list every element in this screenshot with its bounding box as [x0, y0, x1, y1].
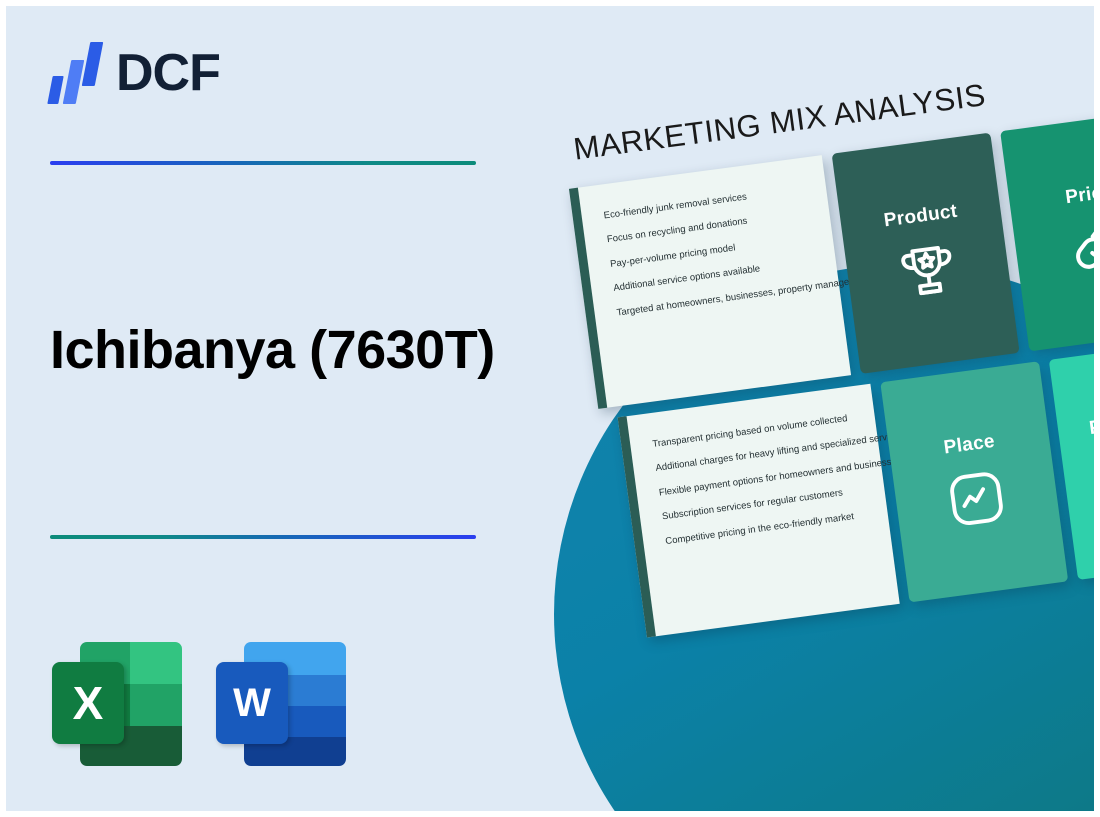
- document-icons: X W: [52, 640, 346, 768]
- divider-bottom: [50, 535, 476, 539]
- page-title: Ichibanya (7630T): [50, 321, 570, 380]
- marketing-mix-group: MARKETING MIX ANALYSIS Eco-friendly junk…: [562, 63, 1100, 652]
- card-price[interactable]: Price: [1000, 110, 1100, 351]
- analysis-stage: MARKETING MIX ANALYSIS Eco-friendly junk…: [506, 6, 1100, 817]
- excel-badge: X: [52, 662, 124, 744]
- product-bullet-list: Eco-friendly junk removal services Focus…: [578, 155, 844, 350]
- marketing-mix-grid: Eco-friendly junk removal services Focus…: [569, 115, 1100, 640]
- price-details-panel: Transparent pricing based on volume coll…: [618, 384, 900, 638]
- price-bullet-list: Transparent pricing based on volume coll…: [627, 384, 893, 579]
- card-promotion-label: Promotion: [1088, 405, 1100, 440]
- word-badge: W: [216, 662, 288, 744]
- brand-logo[interactable]: DCF: [50, 42, 220, 104]
- divider-top: [50, 161, 476, 165]
- slide-canvas: DCF Ichibanya (7630T) X W MARKETING MIX …: [0, 0, 1100, 817]
- brand-logo-text: DCF: [116, 47, 220, 99]
- card-place[interactable]: Place: [880, 361, 1068, 602]
- trophy-icon: [893, 235, 963, 305]
- excel-file-icon[interactable]: X: [52, 640, 182, 768]
- card-place-label: Place: [943, 431, 997, 460]
- product-details-panel: Eco-friendly junk removal services Focus…: [569, 155, 851, 409]
- bar-chart-logo-icon: [50, 42, 102, 104]
- card-product[interactable]: Product: [832, 133, 1020, 374]
- link-icon: [1063, 214, 1100, 281]
- activity-icon: [942, 464, 1012, 534]
- card-price-label: Price: [1064, 181, 1100, 209]
- card-product-label: Product: [883, 201, 959, 233]
- word-file-icon[interactable]: W: [216, 640, 346, 768]
